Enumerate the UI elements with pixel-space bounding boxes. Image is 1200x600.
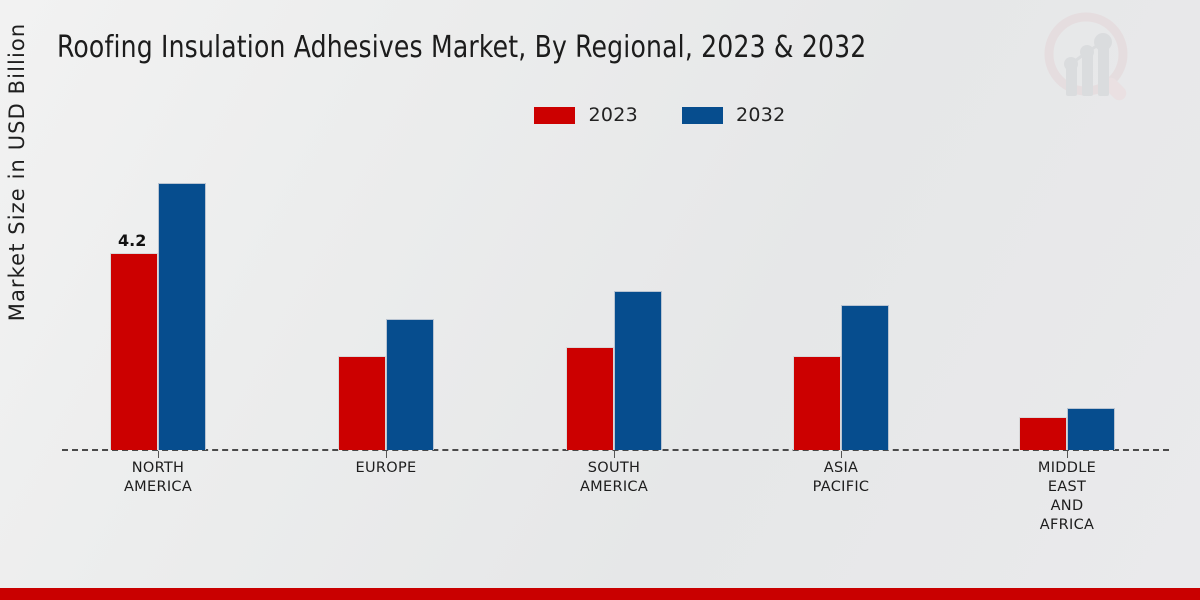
bar-2023[interactable] — [110, 253, 158, 450]
x-axis-label-line: EUROPE — [301, 459, 471, 478]
legend-swatch-2032 — [682, 107, 723, 124]
x-axis-label-line: SOUTH — [529, 459, 699, 478]
x-axis-label: SOUTHAMERICA — [529, 459, 699, 497]
x-axis-label-line: EAST — [982, 478, 1152, 497]
axis-tick — [1067, 451, 1068, 458]
bar-2023[interactable] — [338, 356, 386, 450]
bar-group — [301, 150, 471, 450]
footer-accent-strip — [0, 588, 1200, 600]
axis-tick — [386, 451, 387, 458]
bar-2032[interactable] — [1067, 408, 1115, 450]
bar-group — [982, 150, 1152, 450]
bar-group — [756, 150, 926, 450]
axis-tick — [841, 451, 842, 458]
x-axis-label-line: AND — [982, 497, 1152, 516]
x-axis-label-line: PACIFIC — [756, 478, 926, 497]
x-axis-label-line: AMERICA — [529, 478, 699, 497]
axis-tick — [614, 451, 615, 458]
bar-group — [529, 150, 699, 450]
chart-legend: 2023 2032 — [0, 104, 1200, 126]
legend-item-2023[interactable]: 2023 — [534, 104, 638, 126]
bar-group — [73, 150, 243, 450]
x-axis-label-line: ASIA — [756, 459, 926, 478]
bar-2032[interactable] — [158, 183, 206, 450]
axis-tick — [158, 451, 159, 458]
chart-title: Roofing Insulation Adhesives Market, By … — [57, 30, 866, 66]
market-research-logo-watermark — [1036, 4, 1148, 116]
bar-2032[interactable] — [841, 305, 889, 450]
x-axis-label-line: MIDDLE — [982, 459, 1152, 478]
x-axis-label-line: AMERICA — [73, 478, 243, 497]
x-axis-label: ASIAPACIFIC — [756, 459, 926, 497]
plot-area: 4.2NORTHAMERICAEUROPESOUTHAMERICAASIAPAC… — [0, 0, 1200, 600]
legend-swatch-2023 — [534, 107, 575, 124]
legend-item-2032[interactable]: 2032 — [682, 104, 786, 126]
bar-2023[interactable] — [1019, 417, 1067, 450]
x-axis-label-line: NORTH — [73, 459, 243, 478]
bar-2032[interactable] — [386, 319, 434, 450]
legend-label-2032: 2032 — [736, 104, 786, 126]
bar-2032[interactable] — [614, 291, 662, 450]
chart-container: Roofing Insulation Adhesives Market, By … — [0, 0, 1200, 600]
x-axis-label: NORTHAMERICA — [73, 459, 243, 497]
x-axis-label: MIDDLEEASTANDAFRICA — [982, 459, 1152, 535]
bar-2023[interactable] — [793, 356, 841, 450]
axis-baseline — [62, 449, 1169, 451]
bar-value-label: 4.2 — [118, 231, 146, 250]
x-axis-label: EUROPE — [301, 459, 471, 478]
bar-groups: 4.2NORTHAMERICAEUROPESOUTHAMERICAASIAPAC… — [0, 0, 1200, 600]
legend-label-2023: 2023 — [588, 104, 638, 126]
y-axis-title: Market Size in USD Billion — [5, 7, 29, 337]
x-axis-label-line: AFRICA — [982, 516, 1152, 535]
bar-2023[interactable] — [566, 347, 614, 450]
